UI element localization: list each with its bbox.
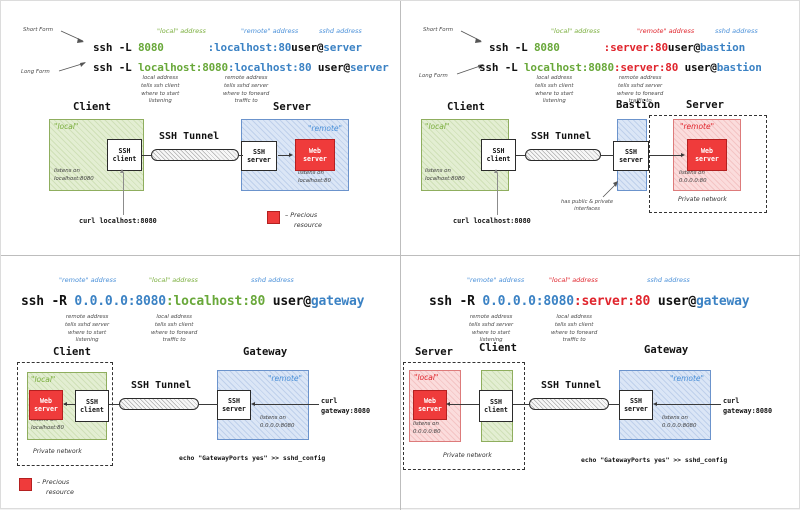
client-title: Client [73,101,111,113]
client-to-web-arrow [63,402,67,406]
ssh-tunnel [119,398,199,410]
curl-arrow [494,169,498,173]
label-local-address: "local" address [551,27,600,35]
legend-dash: – [285,211,288,219]
tunnel-link-right [600,155,614,156]
client-zone-tag: "local" [425,122,449,131]
ssh-client-node: SSH client [107,139,142,171]
gateway-listens-note: listens on 0.0.0.0:8080 [662,415,696,430]
cmd-user: user@ [291,41,323,54]
gateway-title: Gateway [243,346,287,358]
legend-precious-1: Precious [290,211,317,219]
label-sshd-address: sshd address [647,276,690,284]
curl-line [497,173,498,215]
private-network-label: Private network [33,448,82,455]
ssh-server-node: SSH server [613,141,649,171]
ssh-server-node: SSH server [619,390,653,420]
panel-remote-forward-server: "remote" address "local" address sshd ad… [401,256,800,510]
cmd-user: user@ [273,294,311,309]
cmd-host: gateway [696,294,749,309]
tunnel-title: SSH Tunnel [131,380,191,391]
cmd-local: localhost:8080 [524,61,614,74]
legend-text: – Precious resource [37,478,74,497]
ssh-client-label: SSH client [487,147,511,163]
cmd-prefix: ssh -R [21,294,74,309]
server-listens-note: listens on 0.0.0.0:80 [679,170,707,185]
label-remote-address: "remote" address [467,276,524,284]
note-remote-address: remote address tells sshd server where t… [469,314,513,345]
ssh-tunnel [529,398,609,410]
echo-command: echo "GatewayPorts yes" >> sshd_config [179,454,325,462]
command-short-form: ssh -L 8080:server:80user@bastion [489,41,745,54]
command-short-form: ssh -L 8080:localhost:80user@server [93,41,362,54]
tunnel-title: SSH Tunnel [531,131,591,142]
ssh-server-label: SSH server [247,148,271,164]
server-to-web-arrow [289,153,293,157]
cmd-remote: :localhost:80 [208,41,292,54]
server-zone-tag: "remote" [680,122,714,131]
cmd-remote: 0.0.0.0:8080 [74,294,166,309]
private-network-label: Private network [443,452,492,459]
tunnel-link-right [198,404,218,405]
tunnel-link-left [142,155,152,156]
gateway-zone-tag: "remote" [670,374,704,383]
cmd-prefix: ssh -L [93,61,138,74]
private-network-label: Private network [678,196,727,203]
cmd-local: :server:80 [574,294,650,309]
ssh-tunnel [151,149,239,161]
server-title: Server [415,346,453,358]
client-title: Client [479,342,517,354]
web-server-label: Web server [303,147,327,163]
note-local-address: local address tells ssh client where to … [141,75,180,106]
server-listens-note: listens on localhost:80 [298,170,331,185]
gateway-curl-line [253,404,319,405]
cmd-user: user@ [668,41,700,54]
cmd-remote: :localhost:80 [228,61,312,74]
legend-swatch [19,478,32,491]
tunnel-link-left [513,404,530,405]
note-remote-address: remote address tells sshd server where t… [223,75,269,106]
curl-command: curl localhost:8080 [79,217,157,225]
command-remote-forward: ssh -R 0.0.0.0:8080:server:80 user@gatew… [429,294,749,309]
cmd-user: user@ [658,294,696,309]
web-server-node: Web server [295,139,335,171]
long-form-label: Long Form [419,73,448,81]
cmd-local: 8080 [534,41,560,54]
cmd-host: server [323,41,362,54]
curl-command: curl localhost:8080 [453,217,531,225]
server-zone-tag: "remote" [308,124,342,133]
label-local-address: "local" address [549,276,598,284]
command-long-form: ssh -L localhost:8080:localhost:80 user@… [93,61,389,74]
ssh-client-label: SSH client [484,398,508,414]
gateway-listens-note: listens on 0.0.0.0:8080 [260,415,294,430]
ssh-client-node: SSH client [75,390,109,422]
legend-precious-2: resource [46,488,74,496]
short-form-label: Short Form [23,27,53,35]
label-remote-address: "remote" address [637,27,694,35]
legend-dash: – [37,478,40,486]
ssh-tunnel [525,149,601,161]
tunnel-link-right [238,155,243,156]
label-sshd-address: sshd address [715,27,758,35]
server-title: Server [686,99,724,111]
gateway-zone-tag: "remote" [268,374,302,383]
note-remote-address: remote address tells sshd server where t… [65,314,109,345]
ssh-server-node: SSH server [241,141,277,171]
cmd-user: user@ [685,61,717,74]
bastion-note: has public & private interfaces [561,199,613,213]
cmd-remote: :server:80 [604,41,668,54]
legend-text: – Precious resource [285,211,322,230]
web-server-label: Web server [418,397,442,413]
long-form-label: Long Form [21,69,50,77]
cmd-prefix: ssh -L [93,41,138,54]
label-remote-address: "remote" address [241,27,298,35]
gateway-curl-arrow [653,402,657,406]
server-zone-tag: "local" [414,373,438,382]
note-local-address: local address tells ssh client where to … [151,314,197,345]
tunnel-title: SSH Tunnel [159,131,219,142]
tunnel-link-left [516,155,526,156]
cmd-remote: 0.0.0.0:8080 [482,294,574,309]
panel-local-forward-bastion: Short Form Long Form "local" address "re… [401,1,800,255]
server-listens-note: listens on 0.0.0.0:80 [413,421,441,436]
cmd-host: server [350,61,389,74]
command-remote-forward: ssh -R 0.0.0.0:8080:localhost:80 user@ga… [21,294,364,309]
legend-precious-2: resource [294,221,322,229]
server-to-web-line [650,155,682,156]
gateway-curl-arrow [251,402,255,406]
curl-command: curl gateway:8080 [723,396,772,416]
web-server-label: Web server [34,397,58,413]
client-zone-tag: "local" [54,122,78,131]
curl-arrow [120,169,124,173]
web-server-node: Web server [687,139,727,171]
echo-command: echo "GatewayPorts yes" >> sshd_config [581,456,727,464]
cmd-prefix: ssh -L [489,41,534,54]
client-to-web-line [448,404,479,405]
panel-remote-forward-simple: "remote" address "local" address sshd ad… [1,256,400,510]
label-sshd-address: sshd address [251,276,294,284]
ssh-server-label: SSH server [619,148,643,164]
server-title: Server [273,101,311,113]
cmd-prefix: ssh -L [479,61,524,74]
cmd-host: bastion [717,61,762,74]
ssh-server-label: SSH server [624,397,648,413]
label-local-address: "local" address [149,276,198,284]
cmd-host: gateway [311,294,364,309]
client-zone-tag: "local" [31,375,55,384]
legend-swatch [267,211,280,224]
tunnel-title: SSH Tunnel [541,380,601,391]
legend-precious-1: Precious [42,478,69,486]
tunnel-link-right [608,404,620,405]
curl-command: curl gateway:8080 [321,396,370,416]
diagram-sheet: Short Form Long Form "local" address "re… [0,0,800,509]
client-to-web-arrow [446,402,450,406]
cmd-user: user@ [318,61,350,74]
command-long-form: ssh -L localhost:8080:server:80 user@bas… [479,61,762,74]
cmd-local: localhost:8080 [138,61,228,74]
cmd-remote: :server:80 [614,61,678,74]
cmd-local: :localhost:80 [166,294,265,309]
client-listens-note: listens on localhost:8080 [54,168,94,183]
gateway-title: Gateway [644,344,688,356]
label-remote-address: "remote" address [59,276,116,284]
note-local-address: local address tells ssh client where to … [535,75,574,106]
short-form-label: Short Form [423,27,453,35]
cmd-host: bastion [700,41,745,54]
web-server-node: Web server [29,390,63,420]
client-title: Client [447,101,485,113]
ssh-server-label: SSH server [222,397,246,413]
web-server-label: Web server [695,147,719,163]
client-title: Client [53,346,91,358]
web-server-node: Web server [413,390,447,420]
label-local-address: "local" address [157,27,206,35]
panel-local-forward-simple: Short Form Long Form "local" address "re… [1,1,400,255]
client-listens-note: listens on localhost:8080 [425,168,465,183]
gateway-curl-line [655,404,721,405]
ssh-client-label: SSH client [80,398,104,414]
cmd-local: 8080 [138,41,164,54]
tunnel-link-left [109,404,120,405]
ssh-server-node: SSH server [217,390,251,420]
ssh-client-node: SSH client [479,390,513,422]
cmd-prefix: ssh -R [429,294,482,309]
label-sshd-address: sshd address [319,27,362,35]
curl-line [123,173,124,215]
bastion-title: Bastion [616,99,660,111]
note-local-address: local address tells ssh client where to … [551,314,597,345]
ssh-client-label: SSH client [113,147,137,163]
ssh-client-node: SSH client [481,139,516,171]
server-to-web-arrow [681,153,685,157]
